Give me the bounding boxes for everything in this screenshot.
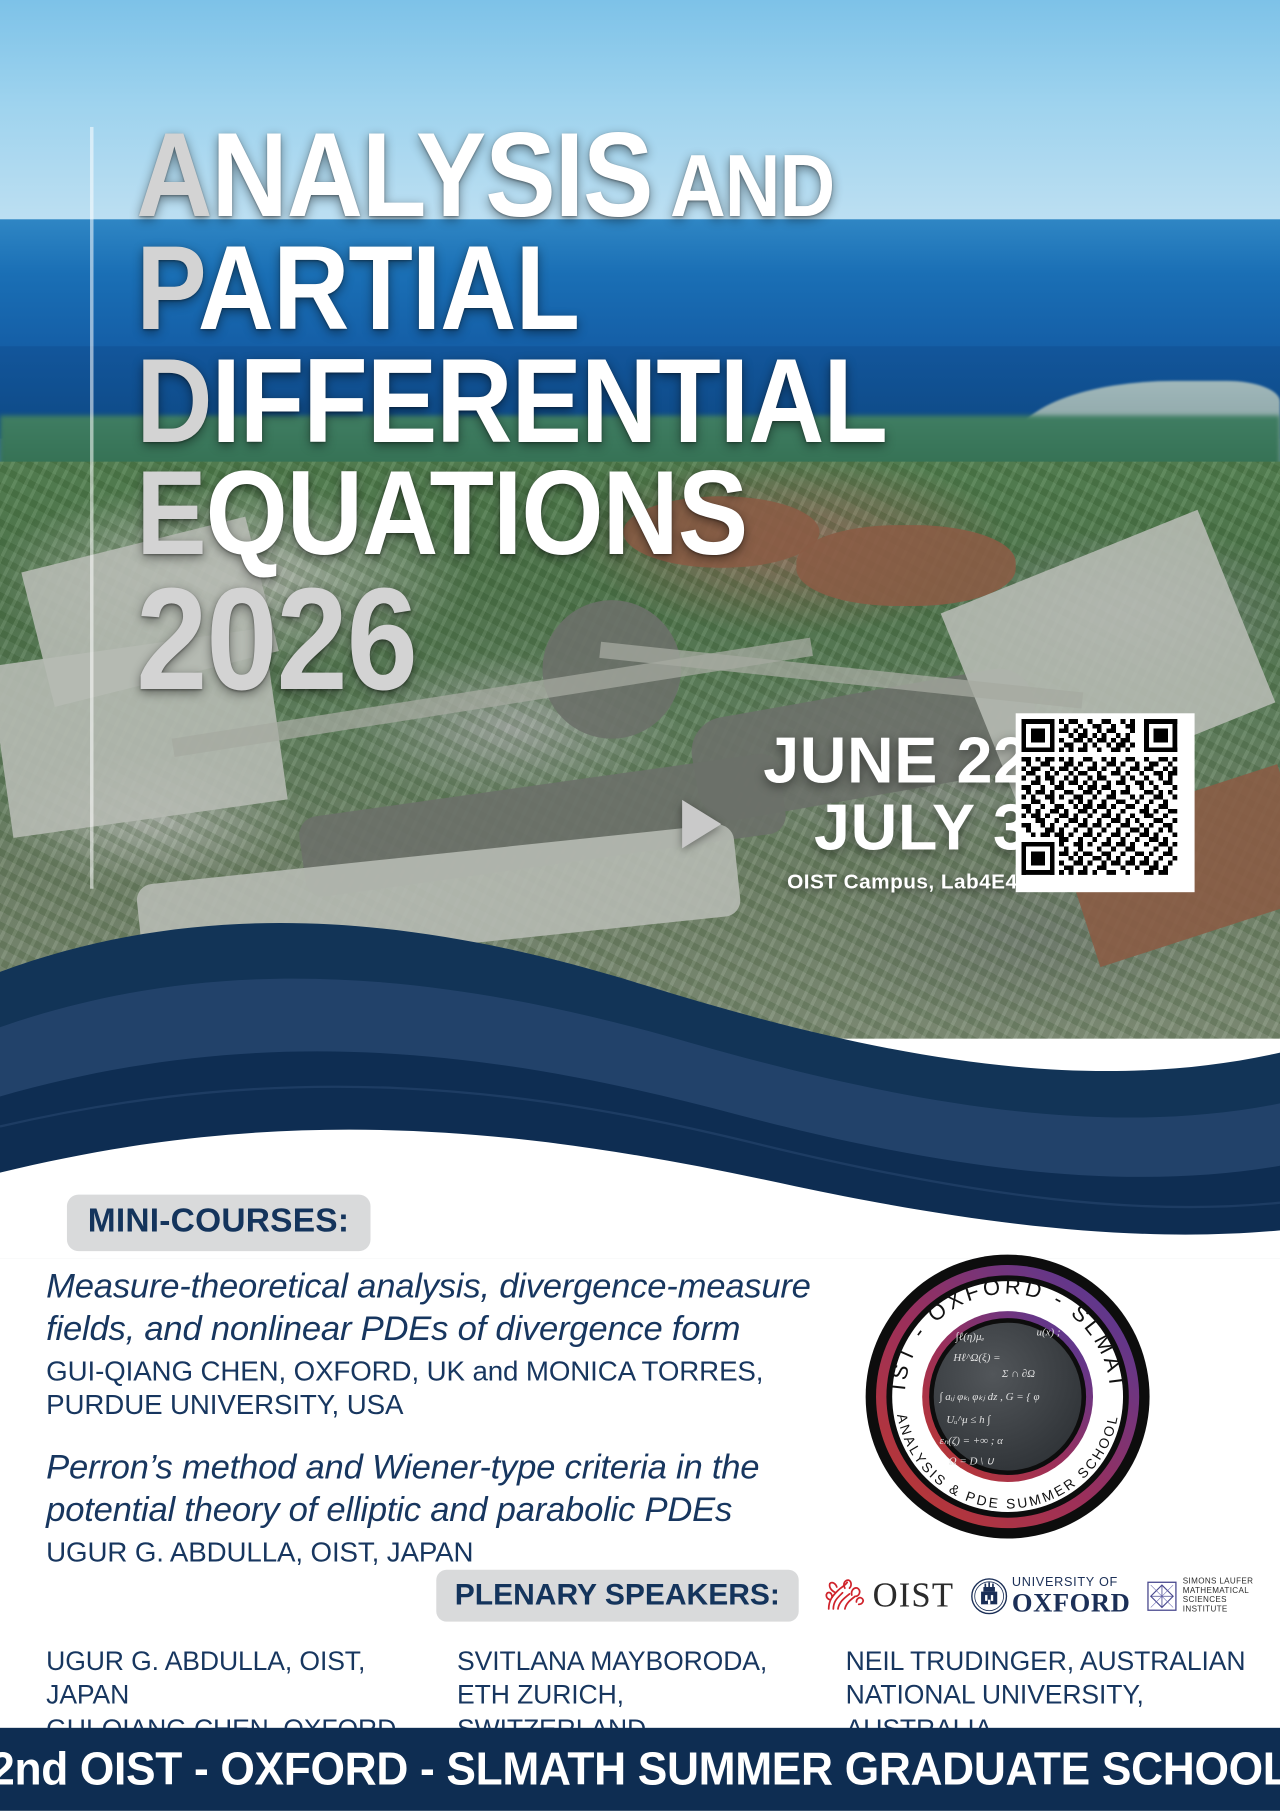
seal-formula-line: Σ ∩ ∂Ω <box>1001 1368 1035 1380</box>
date-end: JULY 3 <box>683 794 1029 861</box>
oxford-crest-icon <box>970 1577 1007 1616</box>
seal-formula-line: εₙ(ζ) = +∞ ; α <box>940 1435 1004 1447</box>
title-year-text: 2026 <box>136 557 417 720</box>
oist-coral-icon <box>822 1577 868 1616</box>
slmath-line-3: SCIENCES INSTITUTE <box>1183 1596 1257 1614</box>
seal-svg: OIST - OXFORD - SLMATH ANALYSIS & PDE SU… <box>863 1252 1152 1541</box>
oxford-wordmark: UNIVERSITY OF OXFORD <box>1012 1577 1131 1616</box>
seal-formula-line: Hℓ^Ω(ξ) = <box>952 1352 1000 1364</box>
date-block: JUNE 22 JULY 3 OIST Campus, Lab4E48 <box>683 727 1029 895</box>
oxford-logo: UNIVERSITY OF OXFORD <box>970 1577 1130 1616</box>
title-line-1: ANALYSIS AND <box>136 120 1111 233</box>
mini-course-item: Measure-theoretical analysis, divergence… <box>46 1266 842 1422</box>
title-year: 2026 <box>136 571 1111 708</box>
mini-courses-badge: MINI-COURSES: <box>67 1195 370 1252</box>
mini-course-speakers: GUI-QIANG CHEN, OXFORD, UK and MONICA TO… <box>46 1356 842 1422</box>
spacer <box>46 1422 842 1447</box>
mini-course-item: Perron’s method and Wiener-type criteria… <box>46 1448 842 1571</box>
slmath-logo: SIMONS LAUFER MATHEMATICAL SCIENCES INST… <box>1147 1577 1257 1616</box>
title-line-2: PARTIAL <box>136 233 1111 346</box>
banner-text: 2nd OIST - OXFORD - SLMATH SUMMER GRADUA… <box>0 1743 1280 1795</box>
plenary-heading-wrap: PLENARY SPEAKERS: <box>436 1570 798 1622</box>
poster-root: ANALYSIS AND PARTIAL DIFFERENTIAL EQUATI… <box>0 0 1280 1811</box>
title-line-4: EQUATIONS <box>136 459 1111 572</box>
oxford-line-2: OXFORD <box>1012 1589 1131 1616</box>
date-start: JUNE 22 <box>683 727 1029 794</box>
plenary-badge: PLENARY SPEAKERS: <box>436 1570 798 1622</box>
title-line-3: DIFFERENTIAL <box>136 346 1111 459</box>
seal-formula-line: u(x) ; <box>1036 1326 1060 1338</box>
seal-formula-line: Ω = D \ ∪ <box>949 1456 995 1468</box>
slmath-line-1: SIMONS LAUFER <box>1183 1578 1257 1587</box>
seal-formula-line: Uᵤ^μ ≤ h ∫ <box>946 1414 991 1426</box>
bottom-banner: 2nd OIST - OXFORD - SLMATH SUMMER GRADUA… <box>0 1728 1280 1811</box>
oist-wordmark: OIST <box>873 1577 955 1616</box>
seal-formula-line: ∫ℓ(η)μₑ <box>955 1331 985 1343</box>
mini-course-title: Measure-theoretical analysis, divergence… <box>46 1266 842 1351</box>
mini-course-title: Perron’s method and Wiener-type criteria… <box>46 1448 842 1533</box>
summer-school-seal-icon: OIST - OXFORD - SLMATH ANALYSIS & PDE SU… <box>863 1252 1152 1541</box>
title-and: AND <box>652 137 834 235</box>
mini-courses-heading-wrap: MINI-COURSES: <box>67 1195 370 1252</box>
institution-logos: OIST UNIVERSITY OF OXFORD <box>822 1564 1249 1629</box>
poster-title: ANALYSIS AND PARTIAL DIFFERENTIAL EQUATI… <box>136 120 1244 708</box>
qr-code-svg <box>1021 719 1177 875</box>
speaker-entry: UGUR G. ABDULLA, OIST, JAPAN <box>46 1645 425 1713</box>
campus-photo-background: ANALYSIS AND PARTIAL DIFFERENTIAL EQUATI… <box>0 0 1280 1039</box>
slmath-line-2: MATHEMATICAL <box>1183 1587 1257 1596</box>
venue-text: OIST Campus, Lab4E48 <box>683 871 1029 895</box>
mini-course-speakers: UGUR G. ABDULLA, OIST, JAPAN <box>46 1538 842 1571</box>
oist-logo: OIST <box>822 1577 954 1616</box>
qr-code-icon[interactable] <box>1016 713 1195 892</box>
play-triangle-icon <box>682 800 721 848</box>
title-rule <box>90 127 93 889</box>
mini-courses-list: Measure-theoretical analysis, divergence… <box>46 1266 842 1571</box>
slmath-wordmark: SIMONS LAUFER MATHEMATICAL SCIENCES INST… <box>1183 1578 1257 1614</box>
seal-formula-line: ∫ aᵢⱼ φₖᵢ φₖⱼ dz , G = { φ <box>939 1391 1040 1403</box>
slmath-diamond-icon <box>1147 1577 1179 1616</box>
